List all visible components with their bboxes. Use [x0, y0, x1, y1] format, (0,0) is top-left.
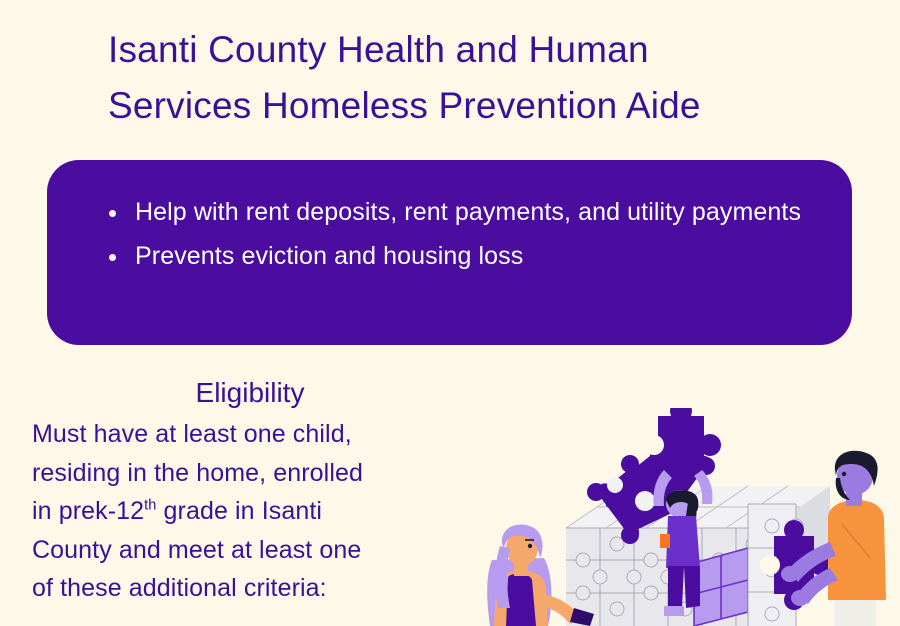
- benefits-list: Help with rent deposits, rent payments, …: [105, 190, 822, 278]
- eligibility-line-5: of these additional criteria:: [32, 569, 482, 608]
- eligibility-heading: Eligibility: [30, 375, 470, 411]
- benefits-list-item: Prevents eviction and housing loss: [105, 234, 822, 278]
- eligibility-line-3-tail: grade in Isanti: [156, 497, 322, 525]
- eligibility-body: Must have at least one child, residing i…: [32, 415, 482, 608]
- slide-canvas: Isanti County Health and Human Services …: [0, 0, 900, 626]
- puzzle-illustration-svg: [478, 408, 900, 626]
- eligibility-line-3: in prek-12th grade in Isanti: [32, 492, 482, 531]
- page-title: Isanti County Health and Human Services …: [108, 22, 848, 134]
- eligibility-line-4: County and meet at least one: [32, 531, 482, 570]
- eligibility-line-1: Must have at least one child,: [32, 415, 482, 454]
- puzzle-teamwork-illustration: [478, 408, 900, 626]
- page-title-line-2: Services Homeless Prevention Aide: [108, 78, 848, 134]
- grade-ordinal-superscript: th: [144, 498, 156, 514]
- page-title-line-1: Isanti County Health and Human: [108, 22, 848, 78]
- eligibility-line-3-text: in prek-12: [32, 497, 144, 525]
- benefits-list-item: Help with rent deposits, rent payments, …: [105, 190, 822, 234]
- benefits-callout-box: Help with rent deposits, rent payments, …: [47, 160, 852, 345]
- eligibility-line-2: residing in the home, enrolled: [32, 454, 482, 493]
